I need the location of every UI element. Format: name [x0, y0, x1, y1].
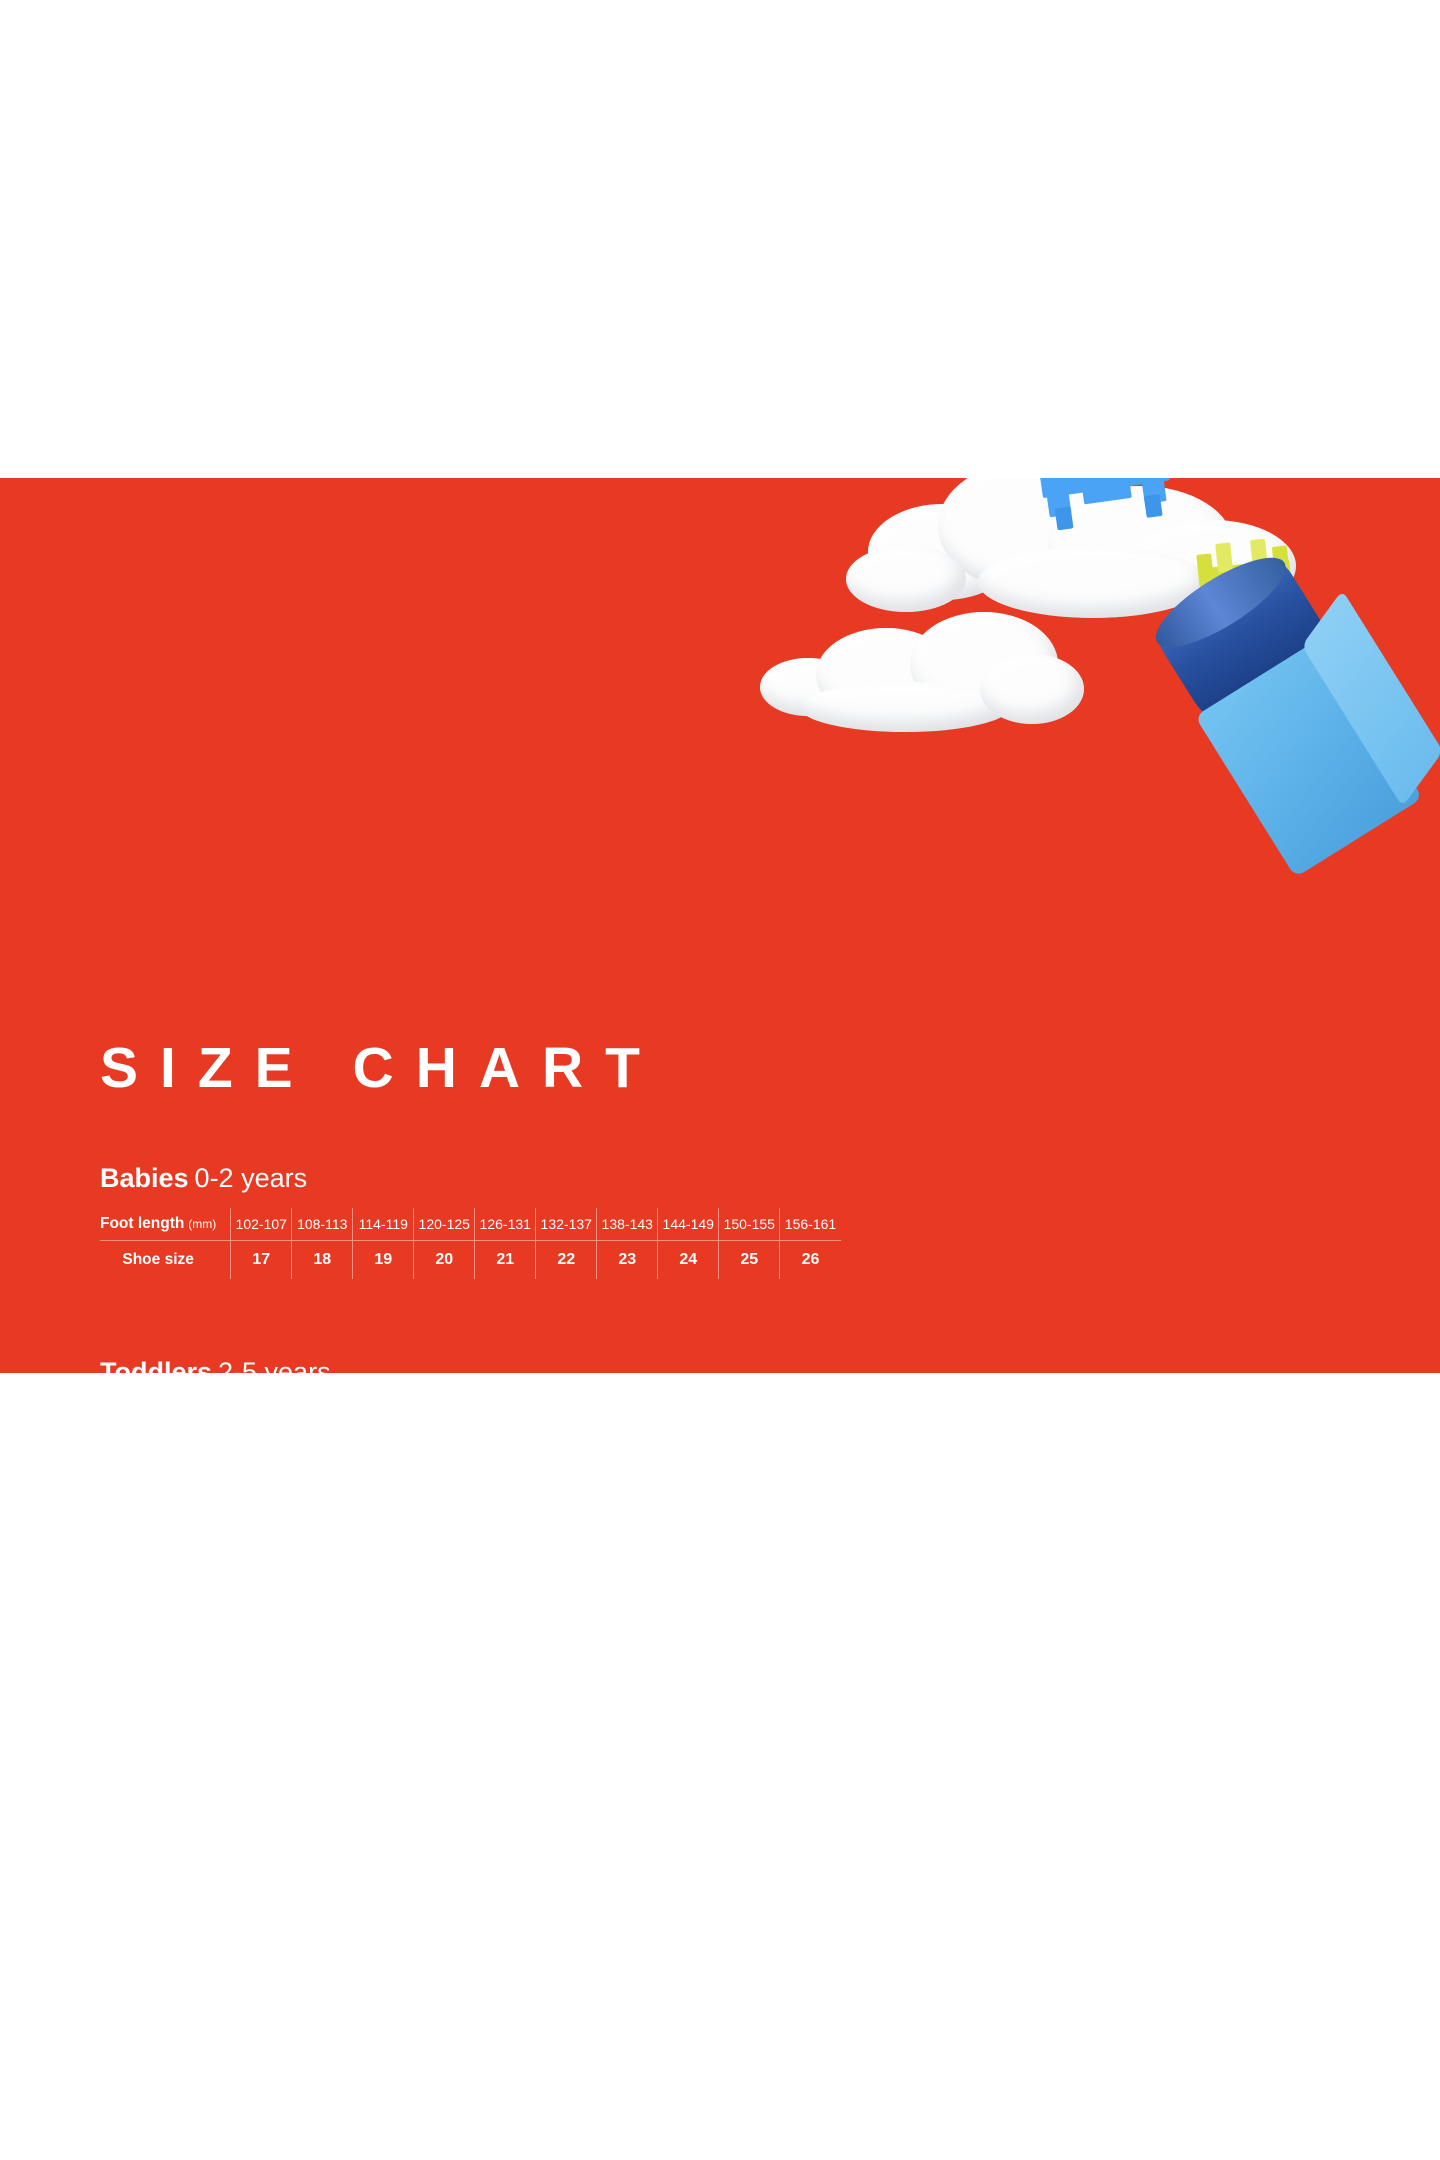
- block-cube-icon: [1195, 606, 1440, 886]
- table-babies-row-foot-length: Foot length (mm) 102-107 108-113 114-119…: [100, 1208, 841, 1241]
- cloud-bottom-icon: [760, 606, 1090, 736]
- cell-foot-length: 120-125: [414, 1208, 475, 1241]
- section-babies-group: Babies: [100, 1163, 189, 1193]
- block-cylinder-icon: [1144, 542, 1341, 733]
- row-label-shoe-size: Shoe size: [100, 1241, 231, 1279]
- cell-foot-length: 138-143: [597, 1208, 658, 1241]
- cell-foot-length: 150-155: [719, 1208, 780, 1241]
- section-babies: Babies0-2 years Foot length (mm) 102-107…: [100, 1164, 841, 1279]
- row-label-foot-length: Foot length (mm): [100, 1208, 231, 1241]
- cell-foot-length: 132-137: [536, 1208, 597, 1241]
- cell-foot-length: 156-161: [780, 1208, 841, 1241]
- cell-foot-length: 108-113: [292, 1208, 353, 1241]
- table-babies: Foot length (mm) 102-107 108-113 114-119…: [100, 1208, 841, 1279]
- cell-shoe-size: 25: [719, 1241, 780, 1279]
- cell-shoe-size: 20: [414, 1241, 475, 1279]
- section-toddlers: Toddlers2-5 years Foot length (mm) 162-1…: [100, 1358, 780, 1373]
- cell-foot-length: 126-131: [475, 1208, 536, 1241]
- table-babies-row-shoe-size: Shoe size 17 18 19 20 21 22 23 24 25 26: [100, 1241, 841, 1279]
- cell-foot-length: 114-119: [353, 1208, 414, 1241]
- section-babies-heading: Babies0-2 years: [100, 1164, 841, 1194]
- cell-shoe-size: 21: [475, 1241, 536, 1279]
- cell-shoe-size: 23: [597, 1241, 658, 1279]
- cell-shoe-size: 26: [780, 1241, 841, 1279]
- page-title: SIZE CHART: [100, 1040, 662, 1097]
- section-babies-age: 0-2 years: [195, 1163, 308, 1193]
- cell-foot-length: 144-149: [658, 1208, 719, 1241]
- cell-foot-length: 102-107: [231, 1208, 292, 1241]
- cell-shoe-size: 22: [536, 1241, 597, 1279]
- cell-shoe-size: 18: [292, 1241, 353, 1279]
- section-toddlers-group: Toddlers: [100, 1357, 212, 1373]
- section-toddlers-heading: Toddlers2-5 years: [100, 1358, 780, 1373]
- cell-shoe-size: 24: [658, 1241, 719, 1279]
- cloud-top-icon: [828, 478, 1298, 632]
- section-toddlers-age: 2-5 years: [218, 1357, 331, 1373]
- size-chart-poster: SIZE CHART Babies0-2 years Foot length (…: [0, 478, 1440, 1373]
- invader-yellow-icon: [1195, 528, 1316, 649]
- page-root: SIZE CHART Babies0-2 years Foot length (…: [0, 0, 1440, 2160]
- cell-shoe-size: 17: [231, 1241, 292, 1279]
- cell-shoe-size: 19: [353, 1241, 414, 1279]
- invader-blue-icon: [1028, 478, 1197, 542]
